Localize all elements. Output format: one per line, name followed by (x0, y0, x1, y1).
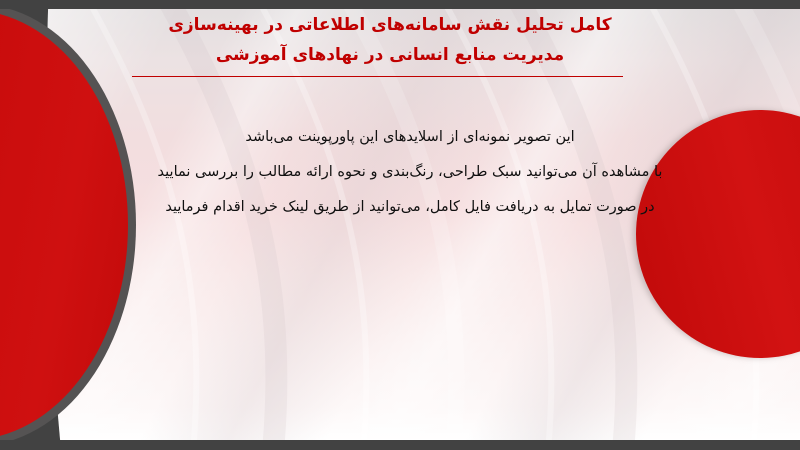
slide-body-line-1: این تصویر نمونه‌ای از اسلایدهای این پاور… (60, 120, 760, 155)
slide-body-text: این تصویر نمونه‌ای از اسلایدهای این پاور… (60, 120, 760, 225)
title-underline-rule (132, 76, 623, 77)
slide-title: کامل تحلیل نقش سامانه‌های اطلاعاتی در به… (110, 10, 670, 70)
slide-title-line-1: کامل تحلیل نقش سامانه‌های اطلاعاتی در به… (110, 10, 670, 40)
bottom-dark-bar (0, 440, 800, 450)
slide-body-line-3: در صورت تمایل به دریافت فایل کامل، می‌تو… (60, 190, 760, 225)
top-dark-bar (0, 0, 800, 9)
slide-title-line-2: مدیریت منابع انسانی در نهادهای آموزشی (110, 40, 670, 70)
presentation-slide: کامل تحلیل نقش سامانه‌های اطلاعاتی در به… (0, 0, 800, 450)
slide-body-line-2: با مشاهده آن می‌توانید سبک طراحی، رنگ‌بن… (60, 155, 760, 190)
